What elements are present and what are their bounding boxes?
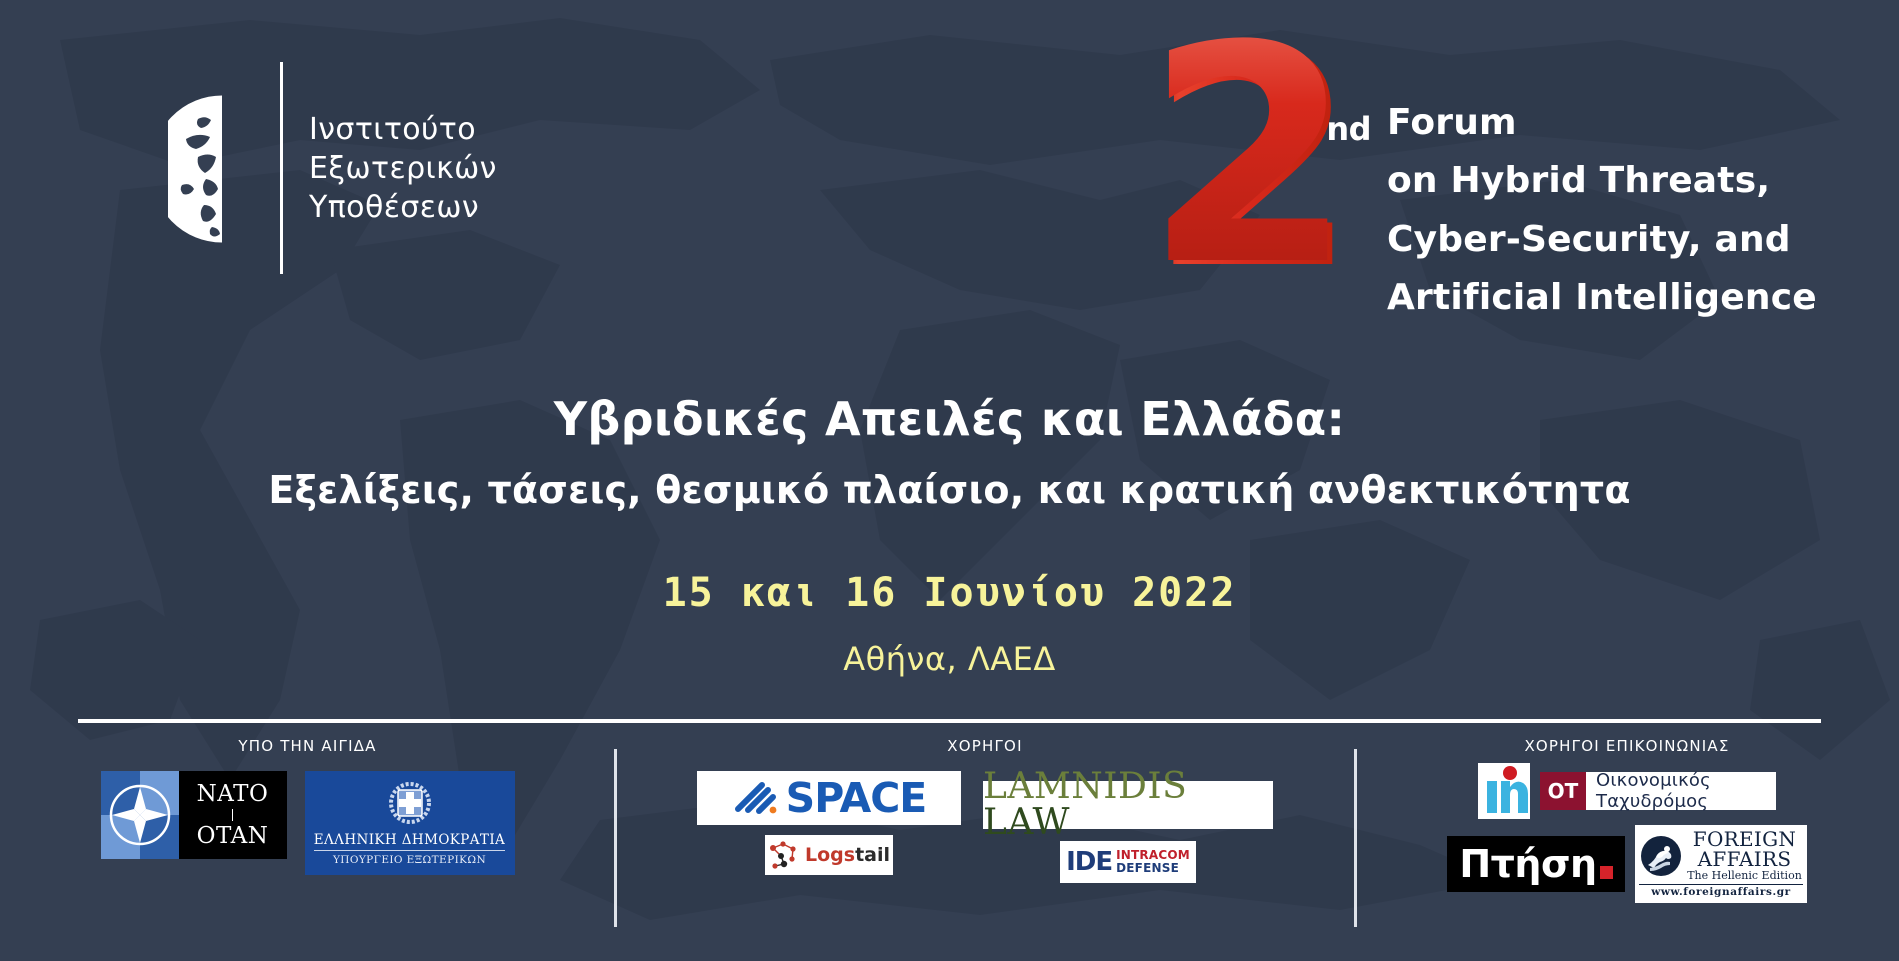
space-bars-icon: [732, 779, 782, 817]
hellenic-mfa-logo: ΕΛΛΗΝΙΚΗ ΔΗΜΟΚΡΑΤΙΑ ΥΠΟΥΡΓΕΙΟ ΕΞΩΤΕΡΙΚΩΝ: [305, 771, 515, 875]
logstail-logo: Logstail: [765, 835, 893, 875]
foreign-affairs-line-2: AFFAIRS: [1698, 850, 1792, 870]
aegis-heading: ΥΠΟ ΤΗΝ ΑΙΓΙΔΑ: [238, 737, 376, 755]
logstail-network-icon: [768, 840, 800, 870]
edition-number-graphic: 2 2 nd: [1150, 24, 1365, 284]
sponsors-heading: ΧΟΡΗΓΟΙ: [947, 737, 1022, 755]
footer: ΥΠΟ ΤΗΝ ΑΙΓΙΔΑ: [0, 723, 1899, 961]
footer-column-aegis: ΥΠΟ ΤΗΝ ΑΙΓΙΔΑ: [0, 723, 615, 961]
lamnidis-name: LAMNIDIS: [983, 766, 1187, 807]
nato-logo: NATO OTAN: [101, 771, 287, 859]
ide-mark: IDE: [1066, 849, 1112, 875]
institute-name: Ινστιτούτο Εξωτερικών Υποθέσεων: [309, 110, 497, 227]
institute-logo: Ινστιτούτο Εξωτερικών Υποθέσεων: [168, 62, 497, 274]
event-subtitle-greek: Εξελίξεις, τάσεις, θεσμικό πλαίσιο, και …: [0, 468, 1899, 512]
nato-separator: [232, 809, 233, 821]
aegis-logos: NATO OTAN ΕΛΛΗΝΙΚΗ ΔΗΜΟΚΡΑΤ: [101, 771, 515, 875]
event-venue: Αθήνα, ΛΑΕΔ: [0, 640, 1899, 678]
logstail-word-2: tail: [855, 844, 890, 866]
nato-label-en: NATO: [197, 781, 269, 807]
space-wordmark: SPACE: [786, 778, 927, 819]
mfa-line-2: ΥΠΟΥΡΓΕΙΟ ΕΞΩΤΕΡΙΚΩΝ: [333, 854, 486, 866]
mfa-line-1: ΕΛΛΗΝΙΚΗ ΔΗΜΟΚΡΑΤΙΑ: [314, 832, 505, 851]
foreign-affairs-seal-icon: [1640, 835, 1682, 877]
forum-title-text: Forum on Hybrid Threats, Cyber-Security,…: [1387, 24, 1817, 327]
event-title-greek: Υβριδικές Απειλές και Ελλάδα:: [0, 392, 1899, 446]
ptisi-wordmark: Πτήση: [1459, 845, 1596, 883]
svg-text:2: 2: [1150, 24, 1353, 284]
event-date: 15 και 16 Ιουνίου 2022: [0, 570, 1899, 616]
footer-column-sponsors: ΧΟΡΗΓΟΙ: [615, 723, 1355, 961]
ordinal-suffix: nd: [1326, 110, 1371, 148]
lamnidis-law-logo: LAMNIDIS LAW: [983, 781, 1273, 829]
space-logo: SPACE: [697, 771, 961, 825]
media-heading: ΧΟΡΗΓΟΙ ΕΠΙΚΟΙΝΩΝΙΑΣ: [1524, 737, 1729, 755]
footer-column-media: ΧΟΡΗΓΟΙ ΕΠΙΚΟΙΝΩΝΙΑΣ ΟΤ Οικονομικός Ταχυ…: [1355, 723, 1899, 961]
ptisi-dot: [1600, 866, 1613, 879]
nato-label-fr: OTAN: [197, 823, 269, 849]
greek-coat-of-arms-icon: [386, 782, 434, 828]
logo-divider: [280, 62, 283, 274]
intracom-defense-logo: IDE INTRACOM DEFENSE: [1060, 841, 1196, 883]
ot-badge: ΟΤ: [1540, 772, 1586, 810]
foreign-affairs-url: www.foreignaffairs.gr: [1639, 884, 1803, 898]
in-gr-logo: [1478, 763, 1530, 819]
forum-title-block: 2 2 nd Forum on Hybrid Threats, Cyber-Se…: [1150, 24, 1817, 327]
oikonomikos-taxydromos-logo: ΟΤ Οικονομικός Ταχυδρόμος: [1540, 772, 1776, 810]
lamnidis-kind: LAW: [983, 802, 1070, 843]
half-globe-icon: [168, 93, 276, 243]
nato-wordmark: NATO OTAN: [179, 771, 287, 859]
foreign-affairs-edition: The Hellenic Edition: [1687, 871, 1802, 882]
logstail-word-1: Logs: [805, 844, 855, 866]
ide-word-defense: DEFENSE: [1116, 862, 1190, 875]
foreign-affairs-logo: FOREIGN AFFAIRS The Hellenic Edition www…: [1635, 825, 1807, 903]
nato-star-icon: [101, 771, 179, 859]
ptisi-logo: Πτήση: [1447, 836, 1625, 892]
ot-name: Οικονομικός Ταχυδρόμος: [1586, 772, 1776, 810]
event-banner: Ινστιτούτο Εξωτερικών Υποθέσεων: [0, 0, 1899, 961]
